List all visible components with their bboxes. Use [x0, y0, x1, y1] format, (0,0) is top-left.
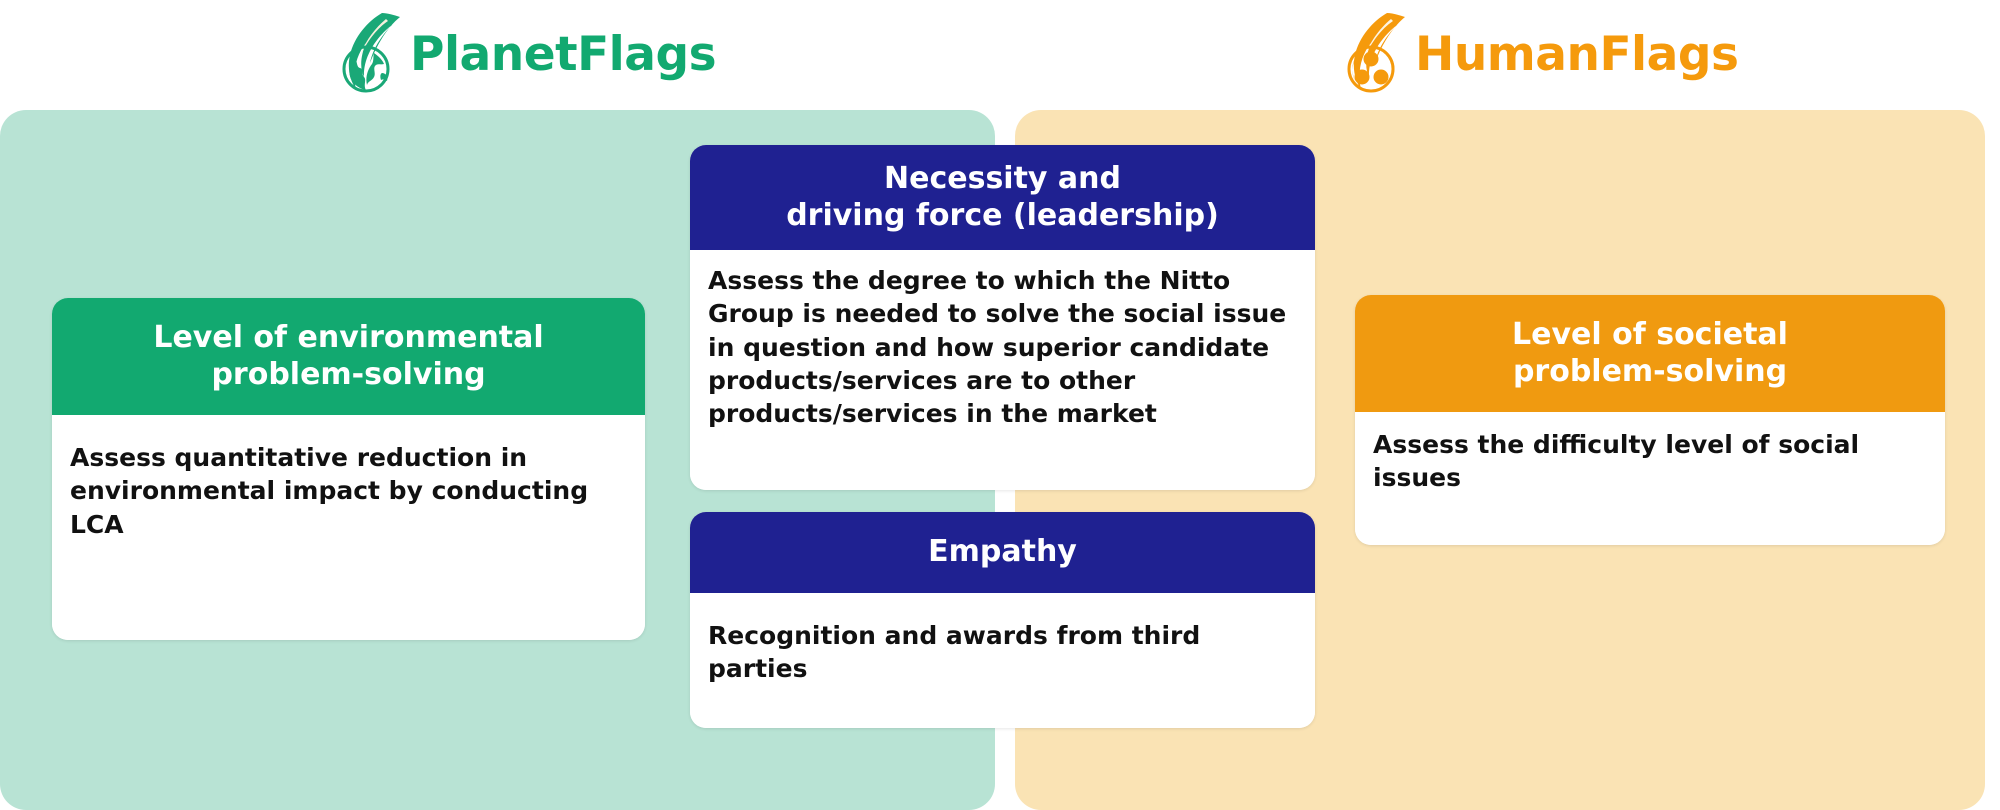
card-title: Empathy	[690, 512, 1315, 593]
card-necessity-and-driving-force: Necessity and driving force (leadership)…	[690, 145, 1315, 490]
card-title: Necessity and driving force (leadership)	[690, 145, 1315, 250]
card-level-of-environmental-problem-solving: Level of environmental problem-solving A…	[52, 298, 645, 640]
card-description: Assess the degree to which the Nitto Gro…	[690, 250, 1315, 490]
leaf-people-icon	[1335, 11, 1409, 97]
card-description: Assess the difficulty level of social is…	[1355, 412, 1945, 545]
card-title: Level of societal problem-solving	[1355, 295, 1945, 412]
card-title: Level of environmental problem-solving	[52, 298, 645, 415]
card-level-of-societal-problem-solving: Level of societal problem-solving Assess…	[1355, 295, 1945, 545]
card-description: Recognition and awards from third partie…	[690, 593, 1315, 728]
card-description: Assess quantitative reduction in environ…	[52, 415, 645, 640]
human-flags-logo-text: HumanFlags	[1415, 31, 1739, 78]
leaf-globe-icon	[330, 11, 404, 97]
card-empathy: Empathy Recognition and awards from thir…	[690, 512, 1315, 728]
planet-flags-logo: PlanetFlags	[330, 4, 716, 104]
human-flags-logo: HumanFlags	[1335, 4, 1739, 104]
planet-flags-logo-text: PlanetFlags	[410, 31, 716, 78]
